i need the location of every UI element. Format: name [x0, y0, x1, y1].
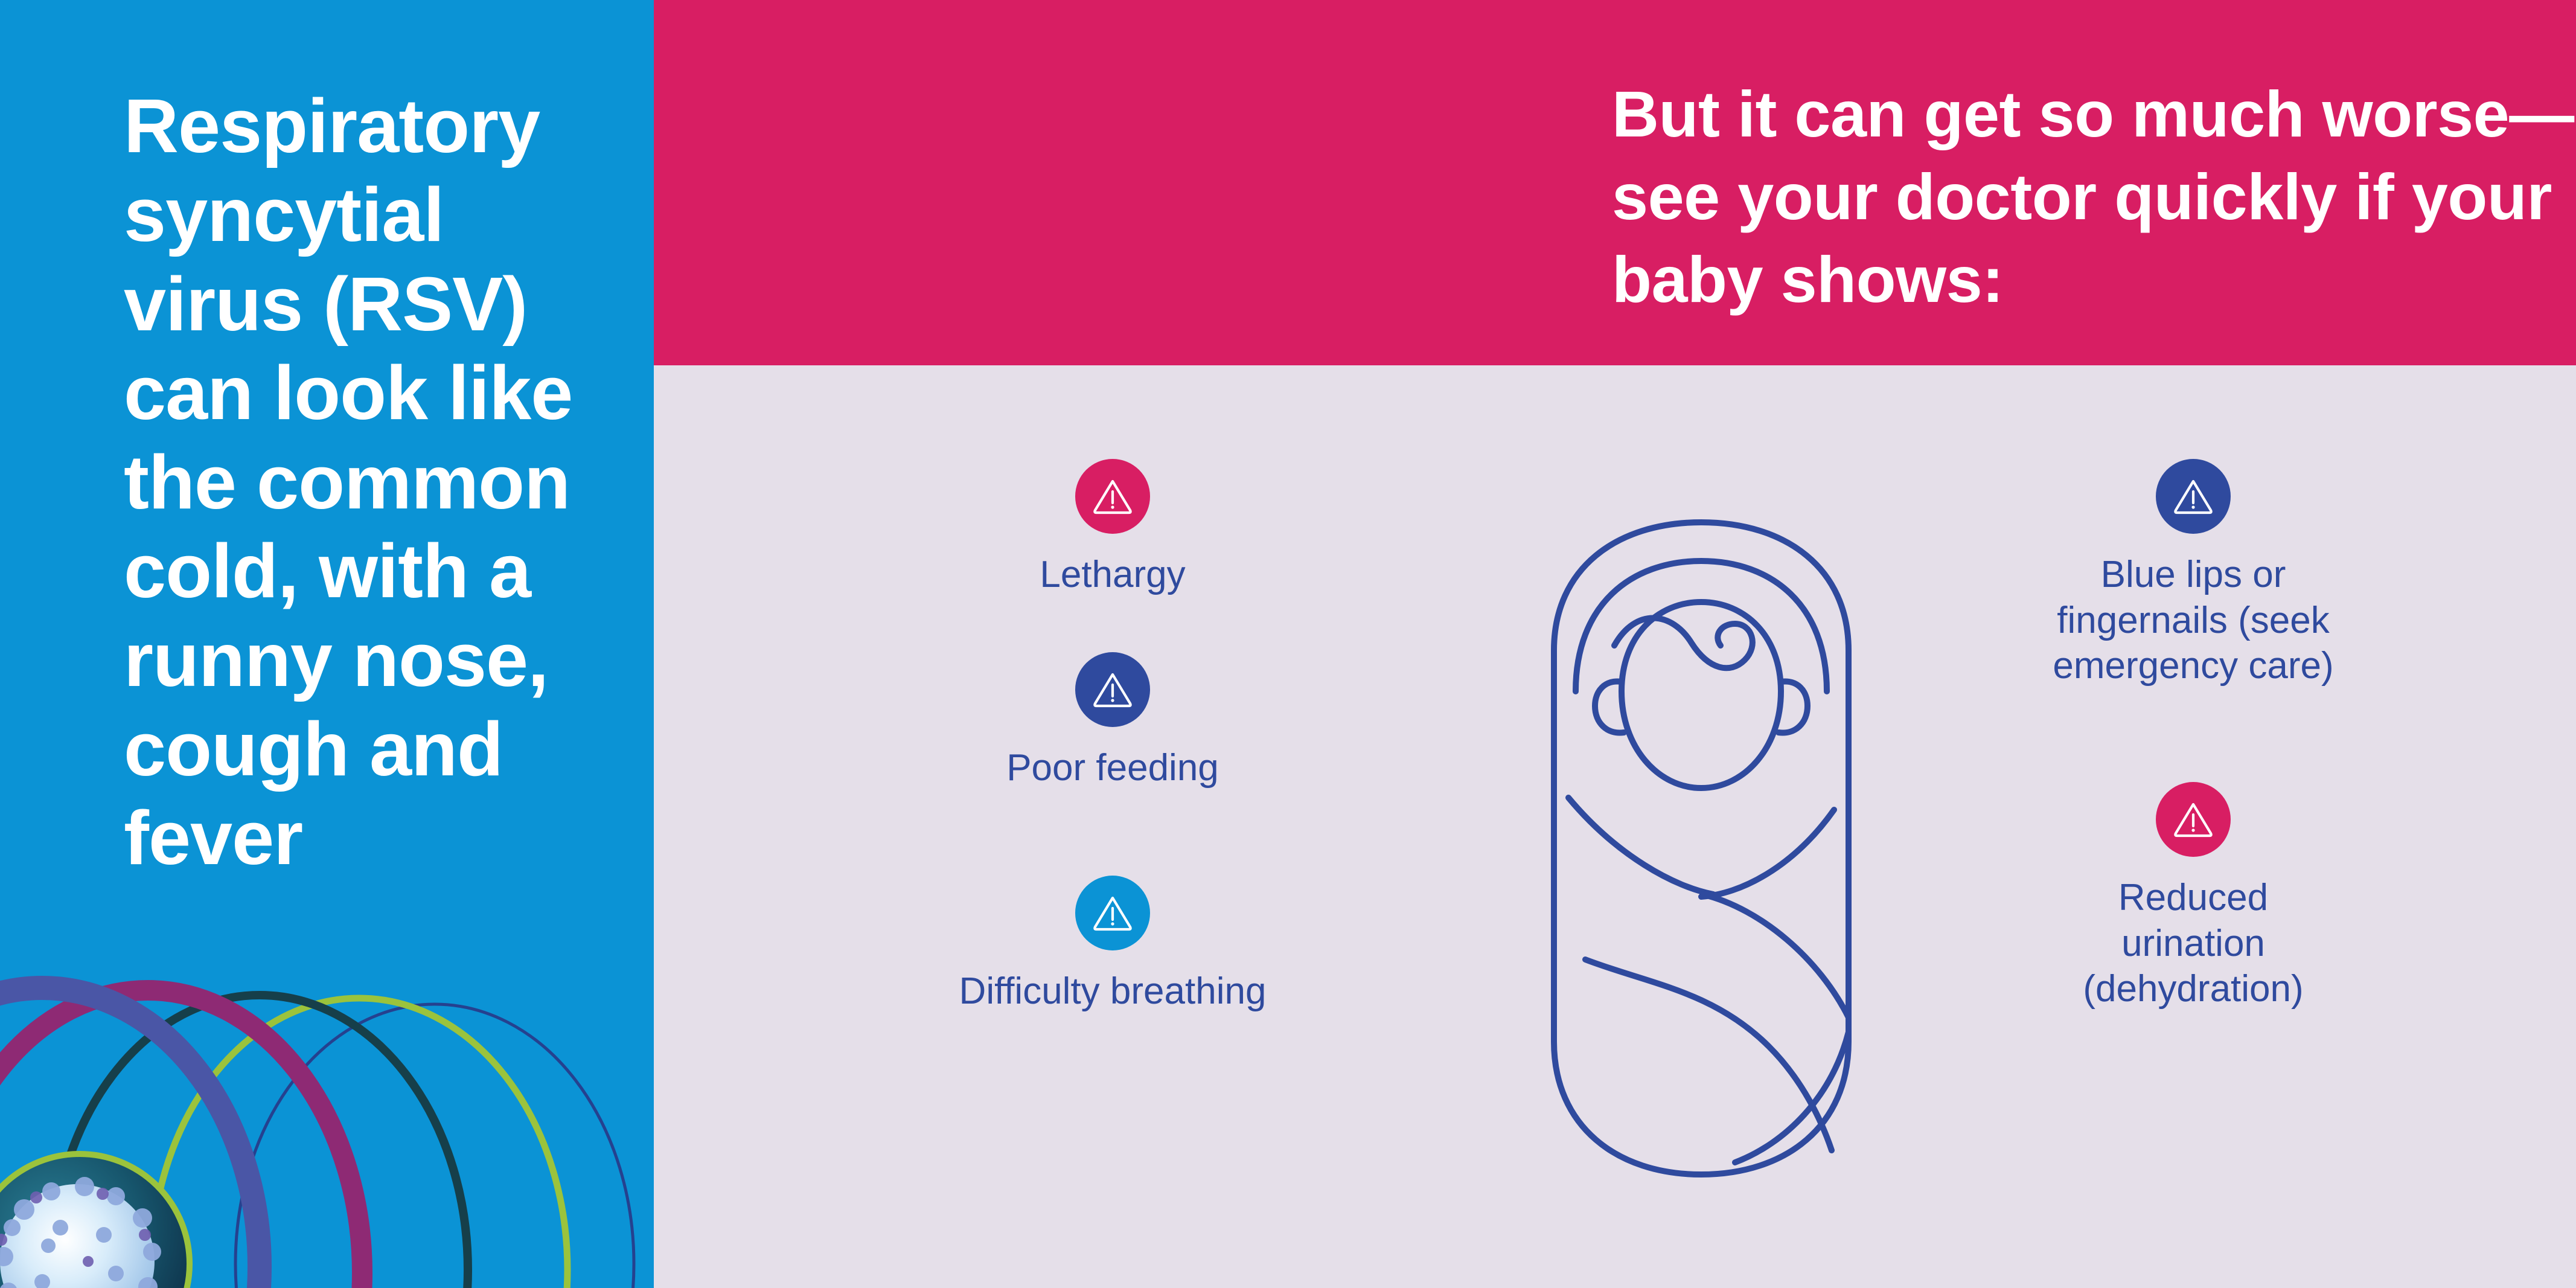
warning-triangle-icon [2156, 782, 2231, 857]
symptom-label: Poor feeding [925, 745, 1300, 791]
left-intro-panel: Respiratory syncytial virus (RSV) can lo… [0, 0, 654, 1288]
warning-triangle-icon [1075, 876, 1150, 950]
swaddled-baby-illustration [1532, 510, 1870, 1187]
infographic-canvas: Respiratory syncytial virus (RSV) can lo… [0, 0, 2576, 1288]
symptom-label: Difficulty breathing [853, 969, 1372, 1014]
symptom-lethargy: Lethargy [944, 459, 1282, 598]
symptom-poor-feeding: Poor feeding [925, 652, 1300, 791]
symptom-label: Lethargy [944, 552, 1282, 598]
symptom-label: Reduced urination (dehydration) [1952, 875, 2435, 1012]
symptom-reduced-urination: Reduced urination (dehydration) [1952, 782, 2435, 1012]
symptom-label: Blue lips or fingernails (seek emergency… [1934, 552, 2453, 689]
virus-rings-graphic [0, 926, 654, 1288]
symptom-difficulty-breathing: Difficulty breathing [853, 876, 1372, 1014]
warning-triangle-icon [2156, 459, 2231, 534]
warning-triangle-icon [1075, 459, 1150, 534]
symptoms-panel: Lethargy Poor feeding Diff [654, 365, 2576, 1288]
warning-triangle-icon [1075, 652, 1150, 727]
header-headline: But it can get so much worse— see your d… [1612, 72, 2576, 321]
page-title: Respiratory syncytial virus (RSV) can lo… [124, 82, 631, 883]
symptom-blue-lips: Blue lips or fingernails (seek emergency… [1934, 459, 2453, 689]
header-banner: But it can get so much worse— see your d… [654, 0, 2576, 365]
